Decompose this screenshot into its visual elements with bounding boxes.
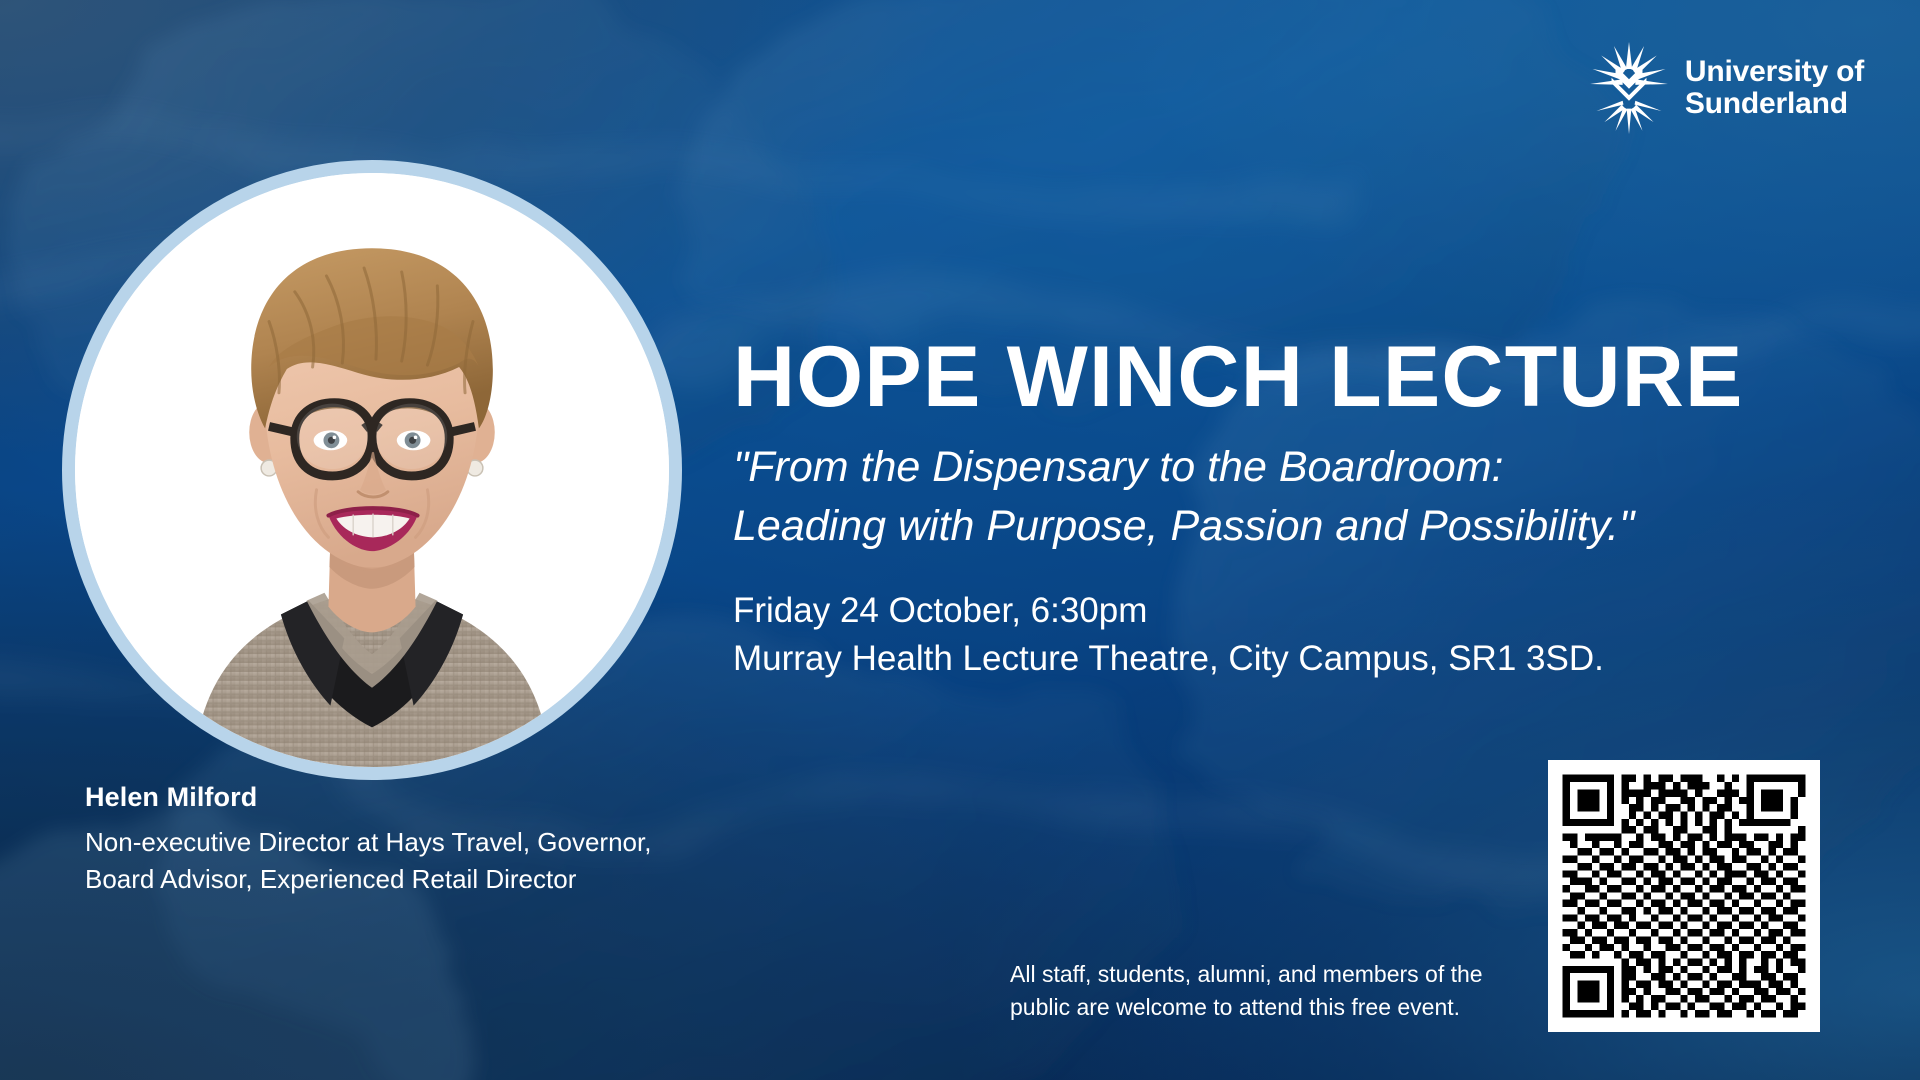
qr-code[interactable]	[1548, 760, 1820, 1032]
page-title: HOPE WINCH LECTURE	[733, 334, 1853, 420]
lecture-subtitle: "From the Dispensary to the Boardroom: L…	[733, 438, 1853, 557]
poster-canvas: University of Sunderland	[0, 0, 1920, 1080]
sunderland-starburst-icon	[1589, 42, 1669, 134]
attendance-note: All staff, students, alumni, and members…	[1010, 958, 1550, 1025]
speaker-portrait	[62, 160, 682, 780]
speaker-portrait-illustration	[75, 173, 669, 767]
qr-code-image	[1548, 760, 1820, 1032]
university-logo[interactable]: University of Sunderland	[1589, 42, 1864, 134]
speaker-name: Helen Milford	[85, 782, 805, 813]
speaker-caption: Helen Milford Non-executive Director at …	[85, 782, 805, 898]
event-details: Friday 24 October, 6:30pm Murray Health …	[733, 587, 1853, 684]
university-wordmark: University of Sunderland	[1685, 56, 1864, 120]
speaker-role: Non-executive Director at Hays Travel, G…	[85, 824, 805, 898]
main-content: HOPE WINCH LECTURE "From the Dispensary …	[733, 334, 1853, 683]
